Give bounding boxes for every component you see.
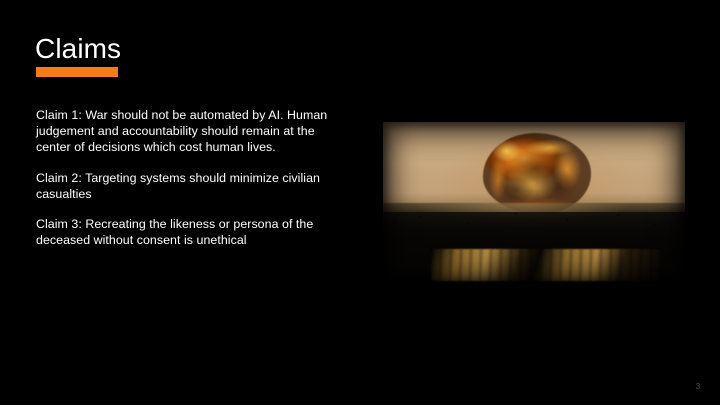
claim-3-text: Claim 3: Recreating the likeness or pers… [36,216,336,248]
claim-1-text: Claim 1: War should not be automated by … [36,107,336,156]
page-number: 3 [690,382,706,392]
slide: Claims Claim 1: War should not be automa… [0,0,720,405]
page-title: Claims [35,33,121,65]
claim-2-text: Claim 2: Targeting systems should minimi… [36,170,336,202]
photo-rooftop-shadows [431,249,661,281]
explosion-photo [383,122,685,283]
claims-list: Claim 1: War should not be automated by … [36,107,336,248]
title-accent-bar [36,67,118,77]
